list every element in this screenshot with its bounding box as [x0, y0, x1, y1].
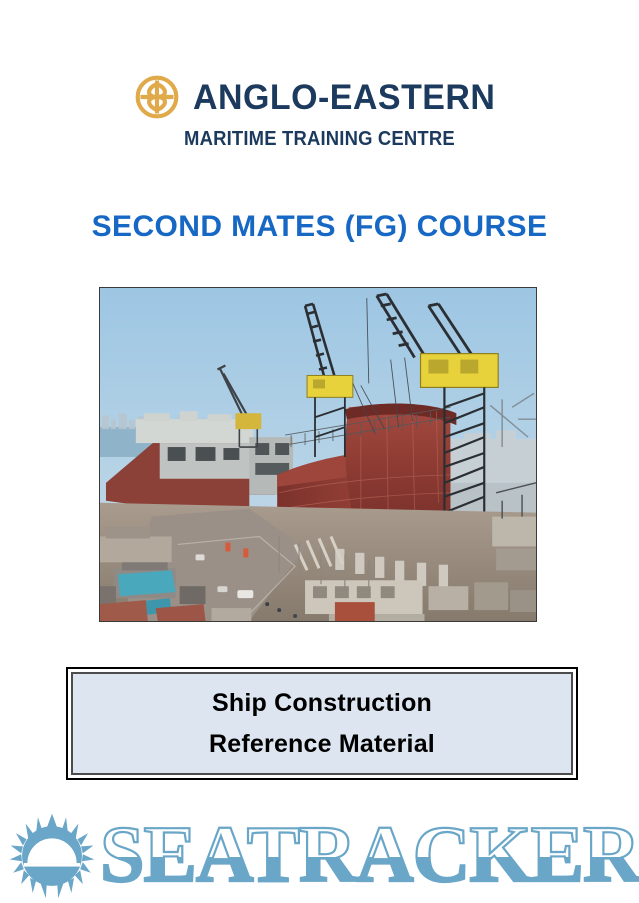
seatracker-wordmark-text: SEATRACKER.RU: [100, 811, 639, 899]
course-title: SECOND MATES (FG) COURSE: [0, 212, 639, 242]
brand-name: ANGLO-EASTERN: [193, 80, 495, 115]
brand-logo-row: ANGLO-EASTERN: [134, 74, 505, 120]
brand-logo-block: ANGLO-EASTERN MARITIME TRAINING CENTRE: [0, 74, 639, 150]
sunburst-icon: [8, 812, 96, 900]
shipyard-photo-image: [100, 288, 536, 621]
anglo-eastern-monogram-icon: [134, 74, 180, 120]
subject-title-box: Ship Construction Reference Material: [66, 667, 578, 780]
brand-subtitle: MARITIME TRAINING CENTRE: [184, 129, 455, 150]
subject-title-box-inner: Ship Construction Reference Material: [71, 672, 573, 775]
subject-line-1: Ship Construction: [212, 691, 432, 716]
seatracker-wordmark: SEATRACKER.RU: [98, 808, 639, 903]
shipyard-photo: [99, 287, 537, 622]
seatracker-watermark: SEATRACKER.RU: [0, 808, 639, 903]
subject-line-2: Reference Material: [209, 732, 435, 757]
